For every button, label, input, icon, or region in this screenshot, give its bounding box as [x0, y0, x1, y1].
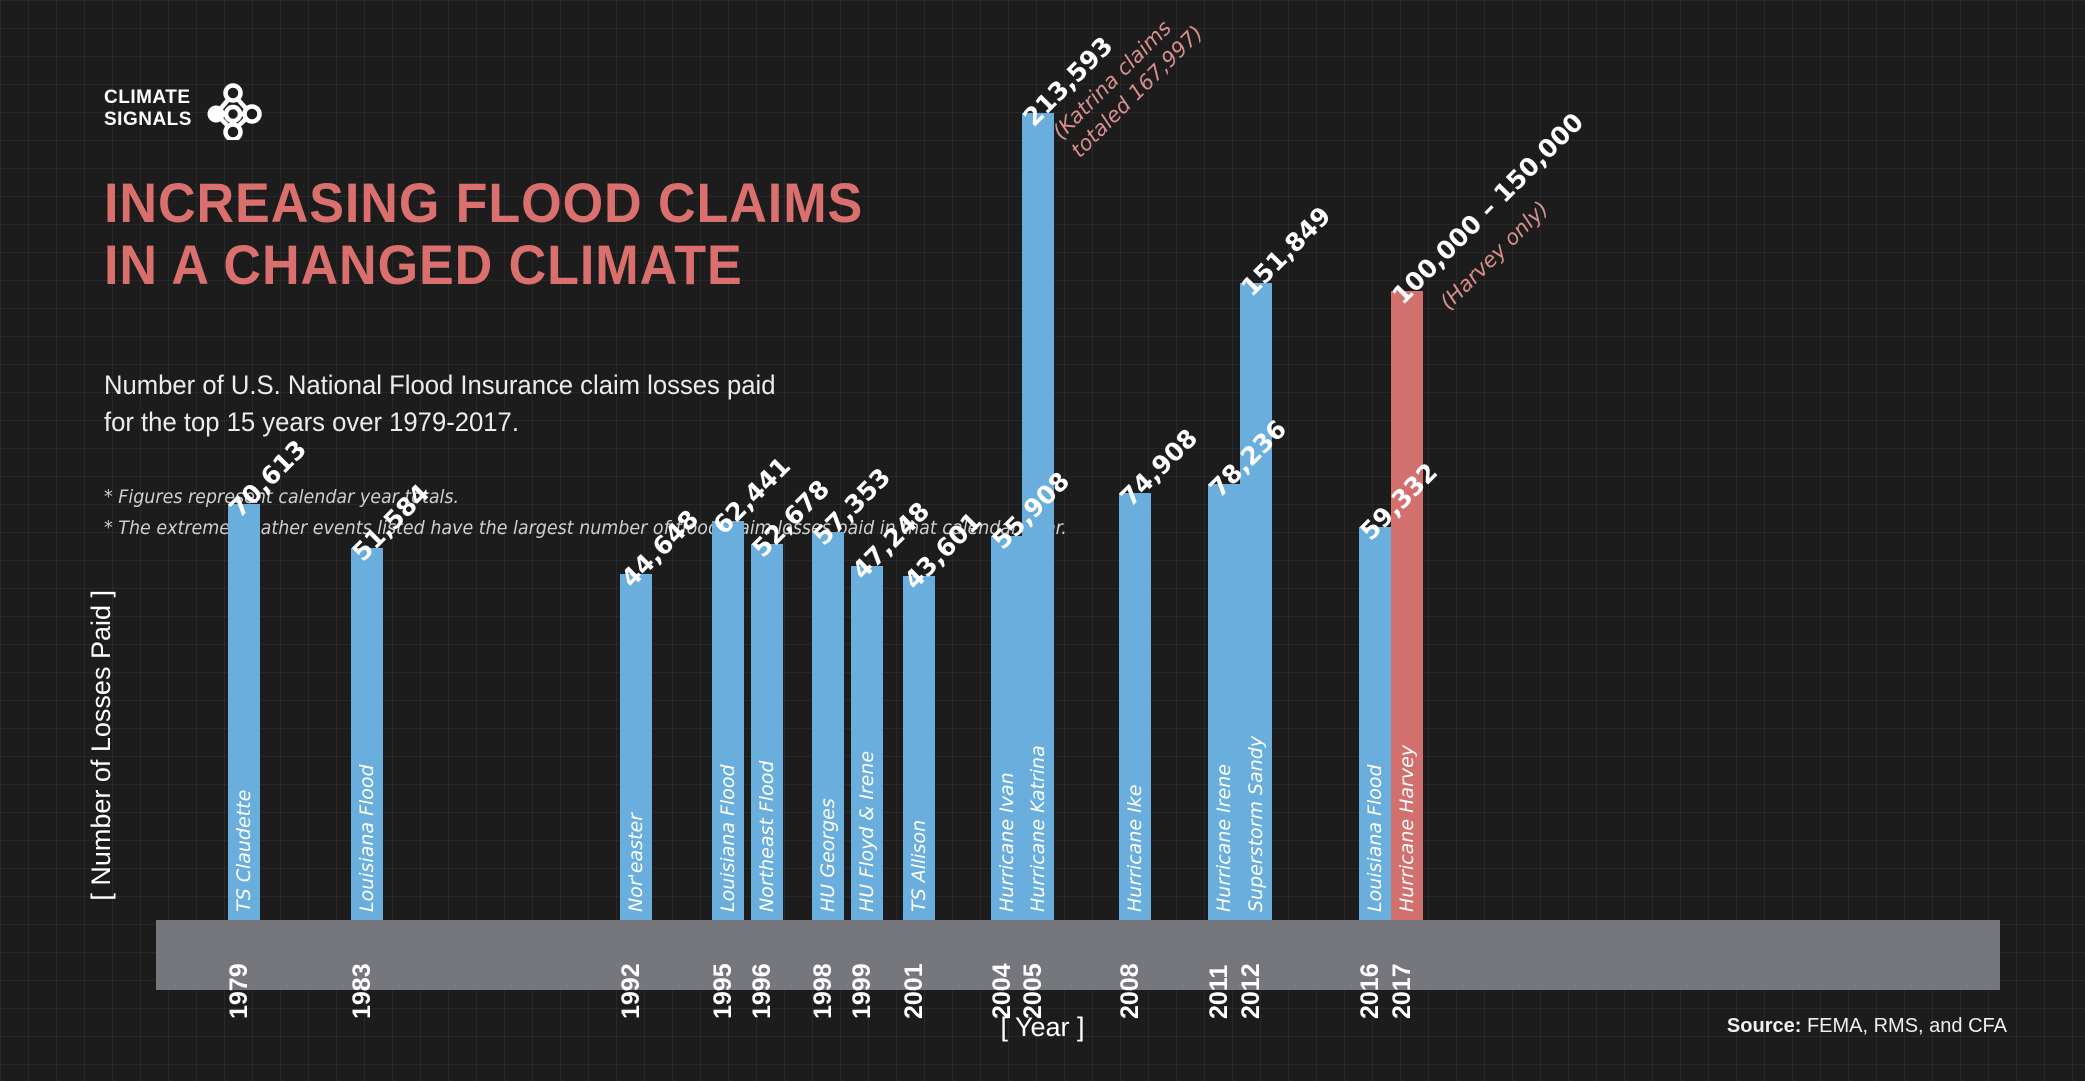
x-tick-2017: 2017 [1388, 963, 1417, 1019]
bar-event-label: TS Allison [908, 820, 930, 912]
brand-line-1: CLIMATE [104, 87, 192, 109]
bar-2012[interactable]: Superstorm Sandy [1240, 283, 1272, 920]
bar-2011[interactable]: Hurricane Irene [1208, 484, 1240, 920]
x-tick-2008: 2008 [1116, 963, 1145, 1019]
bar-2004[interactable]: Hurricane Ivan [991, 536, 1023, 920]
x-tick-2011: 2011 [1205, 965, 1234, 1019]
bar-chart-plot: TS ClaudetteLouisiana FloodNor'easterLou… [156, 120, 2000, 920]
bar-2016[interactable]: Louisiana Flood [1359, 527, 1391, 920]
bar-2008[interactable]: Hurricane Ike [1119, 493, 1151, 920]
bar-event-label: HU Georges [817, 798, 839, 912]
x-axis-band [156, 920, 2000, 990]
bar-event-label: Louisiana Flood [1364, 764, 1386, 912]
bar-event-label: Hurricane Ike [1124, 785, 1146, 912]
source-label: Source: [1727, 1015, 1801, 1037]
bar-1995[interactable]: Louisiana Flood [712, 521, 744, 920]
x-tick-1992: 1992 [617, 963, 646, 1019]
source-credit: Source: FEMA, RMS, and CFA [1727, 1015, 2007, 1038]
bar-1983[interactable]: Louisiana Flood [351, 548, 383, 920]
bar-1999[interactable]: HU Floyd & Irene [851, 566, 883, 920]
bar-event-label: Louisiana Flood [717, 764, 739, 912]
bar-1992[interactable]: Nor'easter [620, 574, 652, 920]
bar-event-label: Northeast Flood [756, 761, 778, 912]
x-tick-2004: 2004 [988, 963, 1017, 1019]
x-tick-1998: 1998 [809, 963, 838, 1019]
bar-event-label: TS Claudette [233, 790, 255, 912]
x-tick-2012: 2012 [1237, 963, 1266, 1019]
x-tick-1995: 1995 [709, 963, 738, 1019]
x-tick-1999: 1999 [848, 963, 877, 1019]
bar-2017[interactable]: Hurricane Harvey [1391, 291, 1423, 920]
x-tick-1979: 1979 [225, 963, 254, 1019]
bar-event-label: Hurricane Katrina [1027, 745, 1049, 912]
bar-event-label: HU Floyd & Irene [856, 751, 878, 912]
source-text: FEMA, RMS, and CFA [1801, 1015, 2007, 1037]
bar-event-label: Hurricane Irene [1213, 764, 1235, 912]
bar-2001[interactable]: TS Allison [903, 576, 935, 920]
x-tick-2001: 2001 [900, 963, 929, 1019]
bar-1979[interactable]: TS Claudette [228, 504, 260, 920]
bar-event-label: Nor'easter [625, 813, 647, 912]
y-axis-title: [ Number of Losses Paid ] [86, 590, 117, 901]
bar-1998[interactable]: HU Georges [812, 532, 844, 920]
bar-event-label: Hurricane Ivan [996, 772, 1018, 912]
x-tick-1996: 1996 [748, 963, 777, 1019]
x-tick-2005: 2005 [1019, 963, 1048, 1019]
infographic-stage: CLIMATE SIGNALS INCREA [0, 0, 2085, 1081]
x-tick-2016: 2016 [1356, 963, 1385, 1019]
x-tick-1983: 1983 [348, 963, 377, 1019]
bar-event-label: Louisiana Flood [356, 764, 378, 912]
bar-1996[interactable]: Northeast Flood [751, 544, 783, 920]
bar-event-label: Superstorm Sandy [1245, 736, 1267, 912]
bar-event-label: Hurricane Harvey [1396, 745, 1418, 912]
